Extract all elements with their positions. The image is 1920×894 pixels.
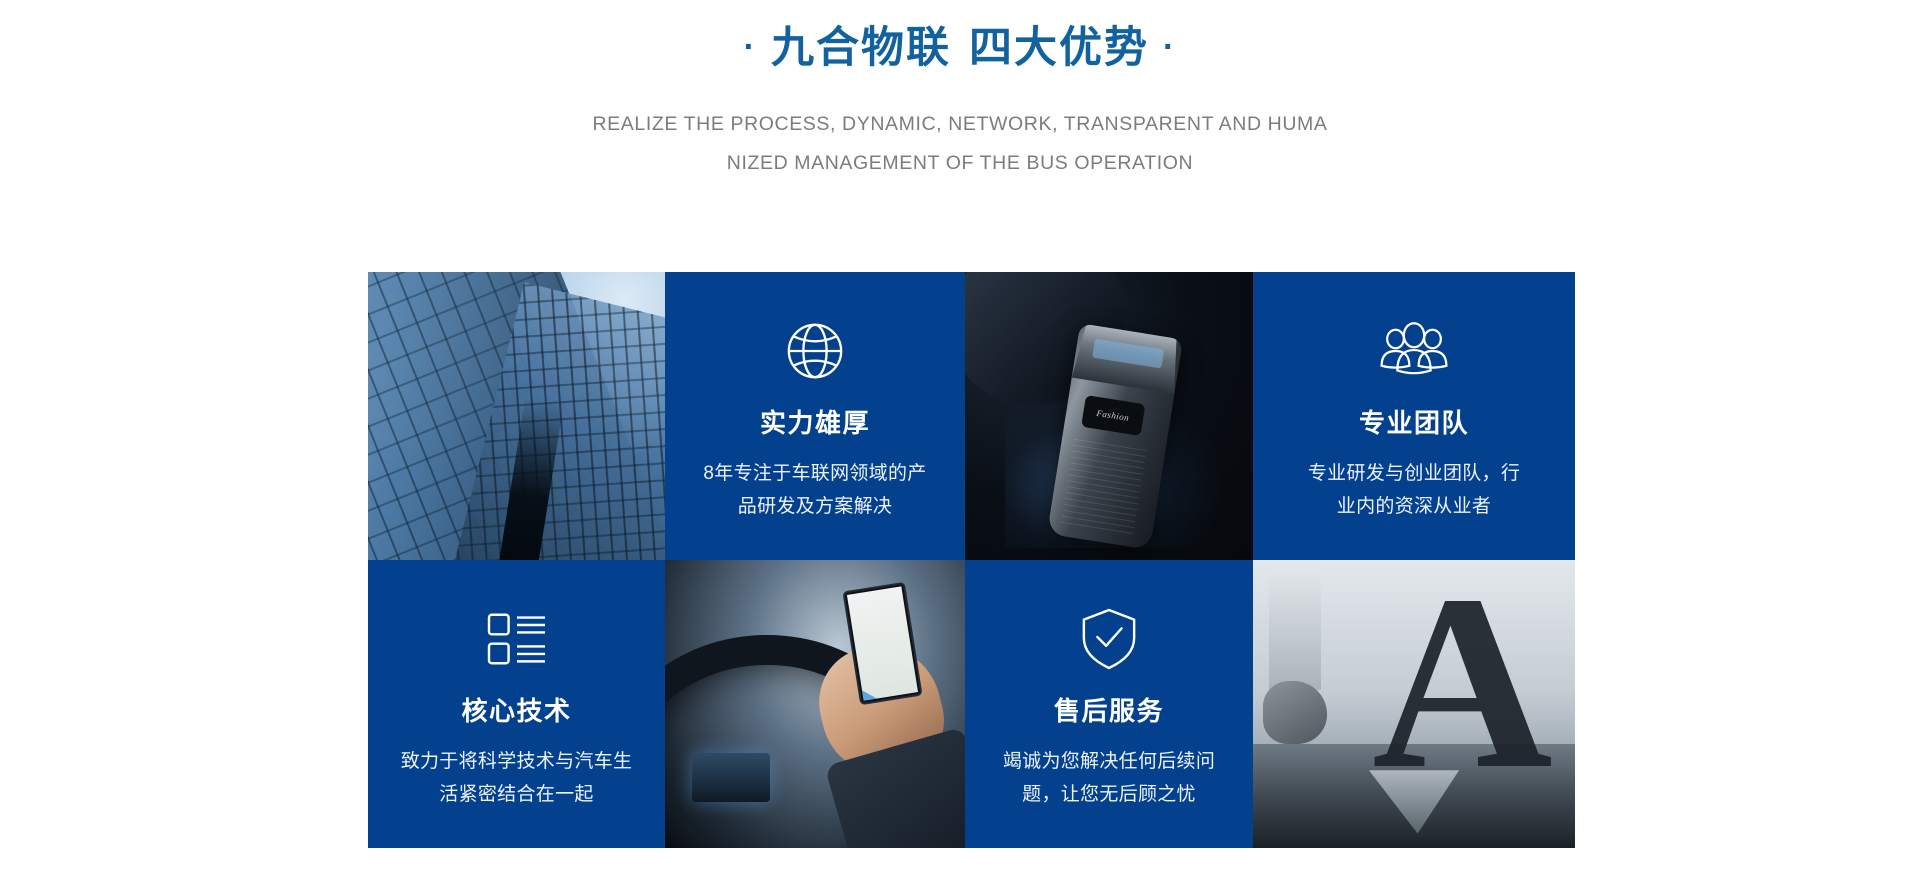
showroom-rock-sculpture — [1263, 681, 1327, 744]
card-strength[interactable]: 实力雄厚 8年专注于车联网领域的产 品研发及方案解决 — [665, 272, 965, 560]
car-device-photo: Fashion — [965, 272, 1253, 560]
card-core-technology[interactable]: 核心技术 致力于将科学技术与汽车生 活紧密结合在一起 — [368, 560, 665, 848]
showroom-letter-sculpture: A — [1372, 580, 1546, 787]
card-team[interactable]: 专业团队 专业研发与创业团队，行 业内的资深从业者 — [1253, 272, 1575, 560]
card-description: 致力于将科学技术与汽车生 活紧密结合在一起 — [401, 746, 633, 811]
title-dot-left-icon: · — [744, 26, 757, 69]
title-dot-right-icon: · — [1163, 26, 1176, 69]
card-description: 竭诚为您解决任何后续问 题，让您无后顾之忧 — [1003, 746, 1215, 811]
shield-check-icon — [1080, 597, 1138, 681]
page-title: ·九合物联四大优势· — [0, 22, 1920, 76]
subtitle-line-2: NIZED MANAGEMENT OF THE BUS OPERATION — [0, 144, 1920, 183]
title-part-one: 九合物联 — [771, 22, 951, 76]
subtitle-line-1: REALIZE THE PROCESS, DYNAMIC, NETWORK, T… — [0, 105, 1920, 144]
driving-with-phone-photo — [665, 560, 965, 848]
card-description-line-1: 竭诚为您解决任何后续问 — [1003, 746, 1215, 779]
card-description-line-2: 题，让您无后顾之忧 — [1003, 779, 1215, 812]
instrument-cluster-glow — [692, 753, 770, 802]
device-brand-label: Fashion — [1096, 408, 1130, 423]
card-description-line-1: 8年专注于车联网领域的产 — [703, 458, 926, 491]
card-title: 专业团队 — [1359, 403, 1469, 440]
globe-icon — [784, 309, 846, 393]
card-title: 售后服务 — [1054, 691, 1164, 728]
card-after-sales[interactable]: 售后服务 竭诚为您解决任何后续问 题，让您无后顾之忧 — [965, 560, 1253, 848]
people-group-icon — [1377, 309, 1451, 393]
advantages-grid: 实力雄厚 8年专注于车联网领域的产 品研发及方案解决 Fashion — [368, 272, 1575, 848]
card-description-line-2: 活紧密结合在一起 — [401, 779, 633, 812]
card-title: 核心技术 — [461, 691, 571, 728]
showroom-pillar — [1269, 574, 1321, 689]
section-header: ·九合物联四大优势· REALIZE THE PROCESS, DYNAMIC,… — [0, 0, 1920, 183]
card-description-line-1: 专业研发与创业团队，行 — [1308, 458, 1520, 491]
card-title: 实力雄厚 — [760, 403, 870, 440]
title-part-two: 四大优势 — [969, 22, 1149, 76]
card-description: 8年专注于车联网领域的产 品研发及方案解决 — [703, 458, 926, 523]
card-description-line-1: 致力于将科学技术与汽车生 — [401, 746, 633, 779]
device-ribs — [1061, 438, 1146, 534]
list-grid-icon — [486, 597, 548, 681]
section-subtitle: REALIZE THE PROCESS, DYNAMIC, NETWORK, T… — [0, 105, 1920, 183]
advantages-section: ·九合物联四大优势· REALIZE THE PROCESS, DYNAMIC,… — [0, 0, 1920, 894]
phone-map-screen — [847, 586, 918, 700]
device-brand-badge: Fashion — [1081, 395, 1145, 436]
card-description-line-2: 业内的资深从业者 — [1308, 491, 1520, 524]
card-description-line-2: 品研发及方案解决 — [703, 491, 926, 524]
showroom-letter-photo: A — [1253, 560, 1575, 848]
glass-office-building-photo — [368, 272, 665, 560]
card-description: 专业研发与创业团队，行 业内的资深从业者 — [1308, 458, 1520, 523]
